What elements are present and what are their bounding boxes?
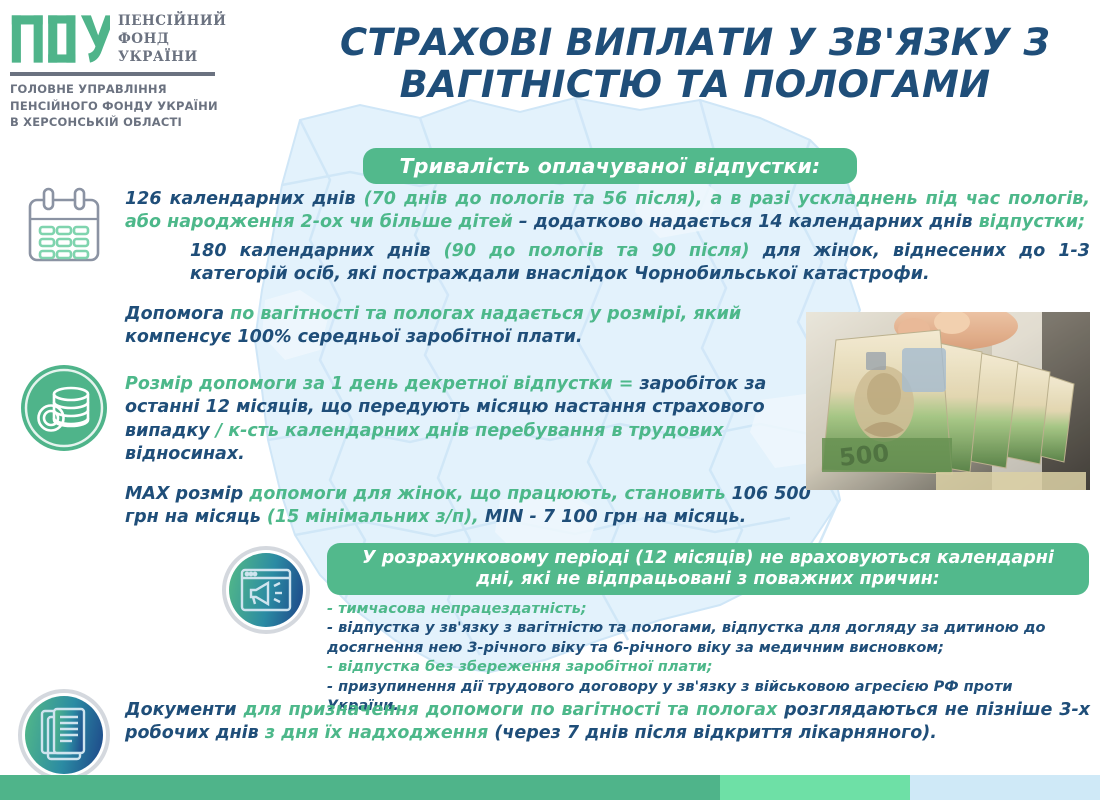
organization-name: ГОЛОВНЕ УПРАВЛІННЯ ПЕНСІЙНОГО ФОНДУ УКРА… [10, 81, 310, 131]
text-formula-green-2: / к-сть календарних днів перебування в т… [216, 421, 724, 441]
pfu-logo-icon [10, 8, 110, 70]
paragraph-180-days: 180 календарних днів (90 до пологів та 9… [190, 240, 1090, 287]
org-line-3: В ХЕРСОНСЬКІЙ ОБЛАСТІ [10, 114, 310, 131]
text-180-days-green: (90 до пологів та 90 після) [444, 241, 763, 261]
calendar-icon [22, 186, 106, 266]
logo-word-line-3: УКРАЇНИ [118, 48, 226, 66]
logo-word-line-1: ПЕНСІЙНИЙ [118, 12, 226, 30]
paragraph-daily-rate-formula: Розмір допомоги за 1 день декретної відп… [125, 373, 805, 466]
org-line-1: ГОЛОВНЕ УПРАВЛІННЯ [10, 81, 310, 98]
text-126-days-green-2: відпустки; [979, 212, 1085, 232]
text-documents-navy-1: Документи [125, 700, 243, 720]
page-title-line-2: ВАГІТНІСТЮ ТА ПОЛОГАМИ [300, 64, 1090, 106]
footer-segment-blue [910, 775, 1100, 800]
text-documents-navy-3: (через 7 днів після відкриття лікарняног… [494, 723, 937, 743]
text-allowance-navy-2: компенсує 100% середньої заробітної плат… [125, 327, 583, 347]
text-allowance-green: по вагітності та пологах надається у роз… [230, 304, 741, 324]
list-item: - тимчасова непрацездатність; [327, 600, 1089, 619]
text-documents-green-1: для призначення допомоги по вагітності т… [243, 700, 784, 720]
text-126-days-navy-2: – додатково надається 14 календарних дні… [513, 212, 979, 232]
paragraph-126-days: 126 календарних днів (70 днів до пологів… [125, 188, 1090, 235]
banner-leave-duration-label: Тривалість оплачуваної відпустки: [400, 154, 821, 178]
org-line-2: ПЕНСІЙНОГО ФОНДУ УКРАЇНИ [10, 98, 310, 115]
paragraph-allowance-amount: Допомога по вагітності та пологах надаєт… [125, 303, 805, 350]
footer-segment-light-green [720, 775, 910, 800]
hryvnia-banknotes-photo: 500 [806, 312, 1090, 490]
banner-excluded-days: У розрахунковому періоді (12 місяців) не… [327, 543, 1089, 595]
paragraph-documents-processing: Документи для призначення допомоги по ва… [125, 699, 1090, 746]
text-min-value: MIN - 7 100 грн на місяць. [485, 507, 746, 527]
list-item: досягнення нею 3-річного віку та 6-річно… [327, 639, 1089, 658]
banner-leave-duration: Тривалість оплачуваної відпустки: [363, 148, 857, 184]
banner-excluded-line-1: У розрахунковому періоді (12 місяців) не… [362, 548, 1054, 569]
text-126-days-bold: 126 календарних днів [125, 189, 364, 209]
logo-word-line-2: ФОНД [118, 30, 226, 48]
text-documents-green-2: з дня їх надходження [265, 723, 494, 743]
page-title: СТРАХОВІ ВИПЛАТИ У ЗВ'ЯЗКУ З ВАГІТНІСТЮ … [300, 22, 1090, 106]
list-item: - відпустка без збереження заробітної пл… [327, 658, 1089, 677]
text-180-days-bold: 180 календарних днів [190, 241, 444, 261]
documents-stack-icon [18, 689, 110, 781]
text-formula-navy-2: відносинах. [125, 444, 245, 464]
megaphone-browser-icon [222, 546, 310, 634]
coins-icon [18, 362, 110, 454]
logo-wordmark: ПЕНСІЙНИЙ ФОНД УКРАЇНИ [118, 12, 226, 67]
text-formula-green-1: Розмір допомоги за 1 день декретної відп… [125, 374, 639, 394]
header: ПЕНСІЙНИЙ ФОНД УКРАЇНИ ГОЛОВНЕ УПРАВЛІНН… [0, 0, 1100, 150]
footer-color-bar [0, 775, 1100, 800]
list-item: - відпустка у зв'язку з вагітністю та по… [327, 619, 1089, 638]
paragraph-max-min-amounts: MAX розмір допомоги для жінок, що працюю… [125, 483, 815, 530]
text-max-note-green: (15 мінімальних з/п), [267, 507, 485, 527]
text-max-label: MAX розмір [125, 484, 249, 504]
banner-excluded-line-2: дні, які не відпрацьовані з поважних при… [362, 569, 1054, 590]
logo-divider [10, 72, 215, 76]
page-title-line-1: СТРАХОВІ ВИПЛАТИ У ЗВ'ЯЗКУ З [300, 22, 1090, 64]
text-allowance-navy-1: Допомога [125, 304, 230, 324]
footer-segment-dark-green [0, 775, 720, 800]
text-max-green: допомоги для жінок, що працюють, станови… [249, 484, 731, 504]
organization-logo-block: ПЕНСІЙНИЙ ФОНД УКРАЇНИ ГОЛОВНЕ УПРАВЛІНН… [10, 8, 310, 131]
